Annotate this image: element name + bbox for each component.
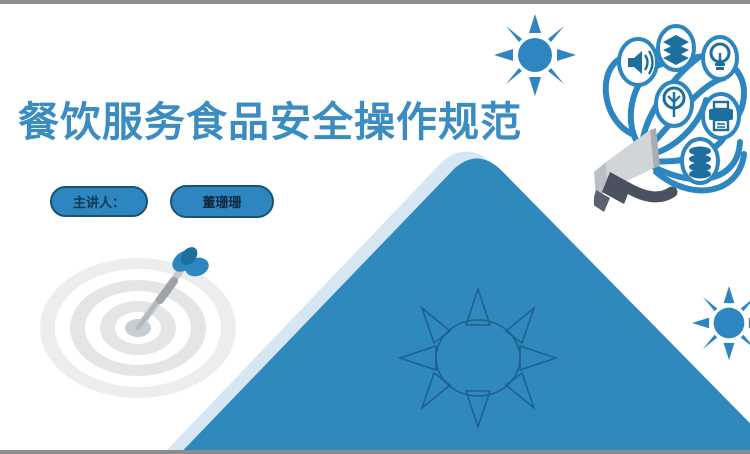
presenter-label-pill[interactable]: 主讲人：: [50, 186, 148, 217]
lightbulb-icon: [703, 37, 737, 79]
sun-burst-outline-center-icon: [392, 283, 564, 433]
dartboard-target-icon: [38, 228, 248, 413]
sun-burst-top-center-icon: [494, 14, 576, 96]
presentation-slide: 餐饮服务食品安全操作规范 主讲人： 董珊珊: [0, 0, 750, 454]
coins-stack-icon: [682, 139, 718, 183]
layers-stack-icon: [658, 26, 694, 70]
sun-burst-bottom-right-icon: [692, 286, 750, 360]
speaker-volume-icon: [619, 39, 657, 85]
printer-icon: [703, 94, 739, 138]
bottom-edge-bar: [0, 450, 750, 454]
tree-nature-icon: [656, 82, 692, 126]
presenter-row: 主讲人： 董珊珊: [50, 185, 274, 218]
top-edge-bar: [0, 0, 750, 4]
page-title: 餐饮服务食品安全操作规范: [18, 88, 522, 148]
megaphone-icon-cluster: [594, 22, 750, 212]
presenter-name-pill[interactable]: 董珊珊: [170, 185, 274, 218]
